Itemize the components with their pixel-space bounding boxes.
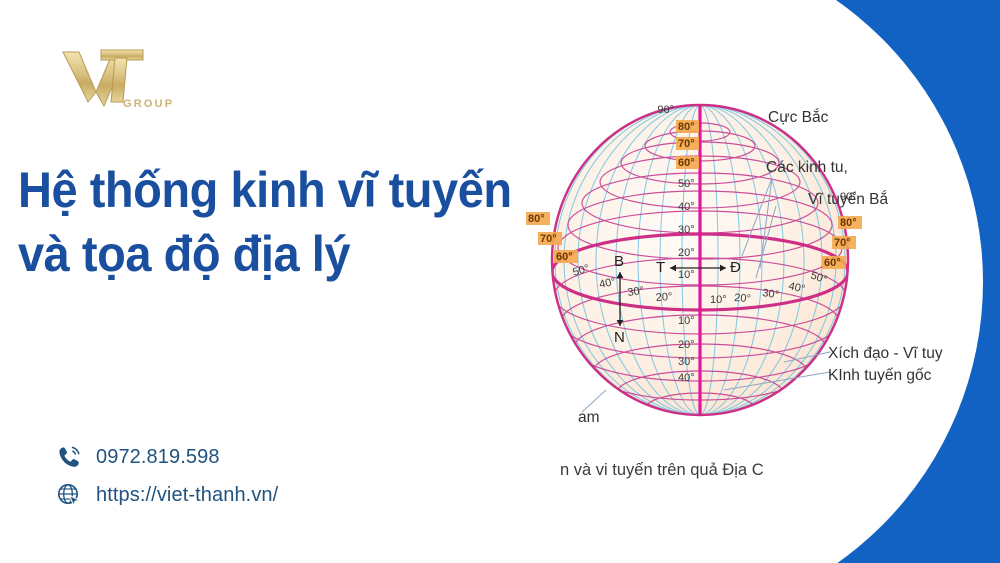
svg-text:30°: 30° [762,287,780,301]
svg-text:70°: 70° [678,138,695,150]
svg-text:80°: 80° [840,217,857,229]
svg-text:20°: 20° [734,292,751,305]
title-line-1: Hệ thống kinh vĩ tuyến [18,158,507,222]
svg-text:60°: 60° [824,257,841,269]
logo-mark-icon: GROUP [55,40,175,120]
phone-ringing-icon [56,444,82,470]
svg-text:10°: 10° [678,315,695,327]
svg-text:60°: 60° [678,157,695,169]
annotation-equator: Xích đạo - Vĩ tuy [828,345,943,362]
svg-text:40°: 40° [678,372,695,384]
svg-text:90°: 90° [657,104,674,116]
phone-number: 0972.819.598 [96,446,220,469]
annotation-meridians: Các kinh tu, [766,159,848,176]
svg-text:70°: 70° [540,233,557,245]
svg-text:GROUP: GROUP [123,98,174,110]
company-logo[interactable]: GROUP [55,40,175,120]
globe-cursor-icon [56,482,82,508]
svg-text:20°: 20° [678,247,695,259]
annotation-prime-meridian: KInh tuyến gốc [828,367,932,384]
svg-text:60°: 60° [556,251,573,263]
annotation-south-pole: am [578,409,600,426]
svg-text:10°: 10° [710,294,727,306]
figure-caption: n và vi tuyến trên quả Địa C [560,461,980,480]
svg-text:80°: 80° [678,121,695,133]
contact-website-row[interactable]: https://viet-thanh.vn/ [56,476,278,514]
website-url: https://viet-thanh.vn/ [96,484,278,507]
cardinal-west: T [656,259,665,276]
svg-text:30°: 30° [678,356,695,368]
svg-text:40°: 40° [678,201,695,213]
globe-graticule-diagram: 90° 80° 70° 60° 50° 40° 30° 20° 10° 10° … [510,60,980,520]
contact-phone-row[interactable]: 0972.819.598 [56,438,278,476]
contact-block: 0972.819.598 https://viet-thanh.vn/ [56,438,278,514]
svg-text:30°: 30° [678,224,695,236]
svg-text:10°: 10° [678,269,695,281]
cardinal-east: Đ [730,259,741,276]
svg-text:20°: 20° [678,339,695,351]
annotation-north-pole: Cực Bắc [768,109,829,126]
page-title: Hệ thống kinh vĩ tuyến và tọa độ địa lý [18,158,538,286]
cardinal-north: B [614,253,624,270]
title-line-2: và tọa độ địa lý [18,222,507,286]
poster-canvas: GROUP Hệ thống kinh vĩ tuyến và tọa độ đ… [0,0,1000,563]
cardinal-south: N [614,329,625,346]
svg-text:20°: 20° [655,291,672,304]
svg-text:50°: 50° [678,178,695,190]
svg-text:30°: 30° [627,285,645,299]
svg-text:70°: 70° [834,237,851,249]
annotation-north-parallel: Vĩ tuyến Bắ [808,191,889,208]
